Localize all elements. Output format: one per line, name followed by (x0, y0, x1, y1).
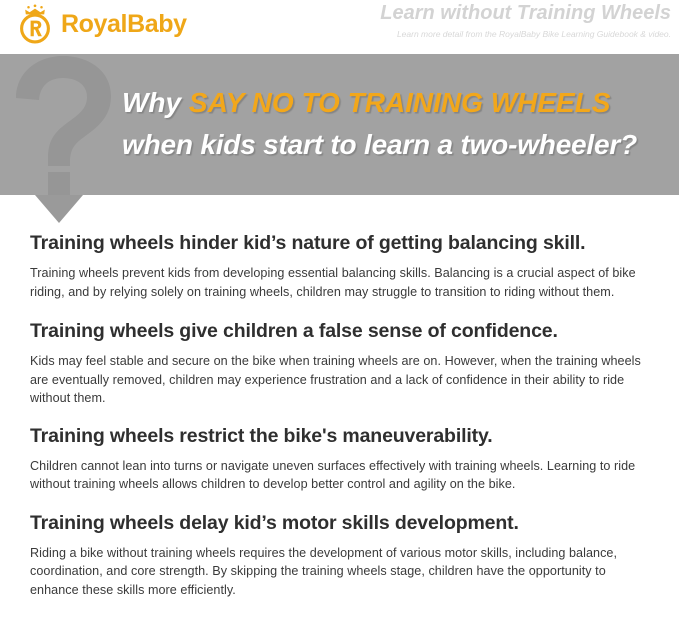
hero-headline-why: Why (122, 87, 189, 118)
article-body: Training wheels hinder kid’s nature of g… (30, 230, 655, 599)
section-heading: Training wheels delay kid’s motor skills… (30, 510, 655, 536)
header-subtitle: Learn more detail from the RoyalBaby Bik… (271, 29, 671, 39)
section-paragraph: Children cannot lean into turns or navig… (30, 457, 655, 494)
brand-name: RoyalBaby (61, 12, 187, 37)
article-section: Training wheels restrict the bike's mane… (30, 423, 655, 494)
page-header: RoyalBaby Learn without Training Wheels … (0, 0, 679, 54)
hero-headline-block: Why SAY NO TO TRAINING WHEELS when kids … (122, 82, 674, 166)
royalbaby-crown-r-emblem-icon (14, 3, 56, 45)
article-section: Training wheels hinder kid’s nature of g… (30, 230, 655, 301)
hero-headline-line-1: Why SAY NO TO TRAINING WHEELS (122, 82, 674, 124)
section-paragraph: Training wheels prevent kids from develo… (30, 264, 655, 301)
section-paragraph: Kids may feel stable and secure on the b… (30, 352, 655, 408)
hero-headline-line-2: when kids start to learn a two-wheeler? (122, 124, 674, 166)
header-tagline-block: Learn without Training Wheels Learn more… (271, 2, 671, 39)
header-title: Learn without Training Wheels (271, 2, 671, 25)
question-mark-arrow-icon (8, 54, 123, 222)
section-heading: Training wheels hinder kid’s nature of g… (30, 230, 655, 256)
section-heading: Training wheels give children a false se… (30, 318, 655, 344)
article-section: Training wheels give children a false se… (30, 318, 655, 408)
section-paragraph: Riding a bike without training wheels re… (30, 544, 655, 600)
hero-headline-accent: SAY NO TO TRAINING WHEELS (189, 87, 611, 118)
section-heading: Training wheels restrict the bike's mane… (30, 423, 655, 449)
brand-logo[interactable]: RoyalBaby (14, 3, 187, 45)
article-section: Training wheels delay kid’s motor skills… (30, 510, 655, 600)
